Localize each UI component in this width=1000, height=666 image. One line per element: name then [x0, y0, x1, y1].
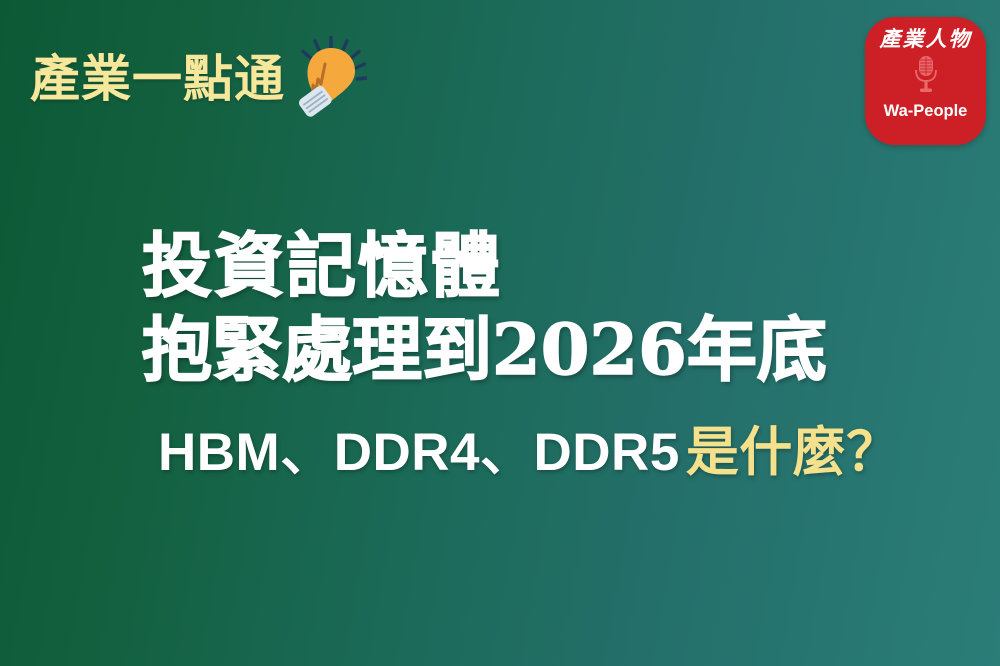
microphone-icon [911, 50, 941, 99]
brand-header: 產業一點通 [30, 38, 367, 120]
headline-line-1: 投資記憶體 [142, 228, 952, 304]
logo-english-name: Wa-People [884, 102, 968, 121]
poster-canvas: 產業一點通 [0, 0, 1000, 666]
headline-block: 投資記憶體 抱緊處理到2026年底 [142, 228, 952, 387]
subheadline-question: 是什麼？ [686, 423, 900, 482]
subheadline-memory-types: HBM、DDR4、DDR5 [158, 423, 680, 482]
subheadline-block: HBM、DDR4、DDR5是什麼？ [158, 424, 958, 482]
lightbulb-icon [295, 38, 367, 120]
brand-title: 產業一點通 [30, 54, 285, 104]
logo-chinese-name: 產業人物 [880, 29, 972, 50]
wa-people-logo[interactable]: 產業人物 Wa-People [865, 17, 986, 145]
headline-line-2: 抱緊處理到2026年底 [142, 312, 952, 388]
